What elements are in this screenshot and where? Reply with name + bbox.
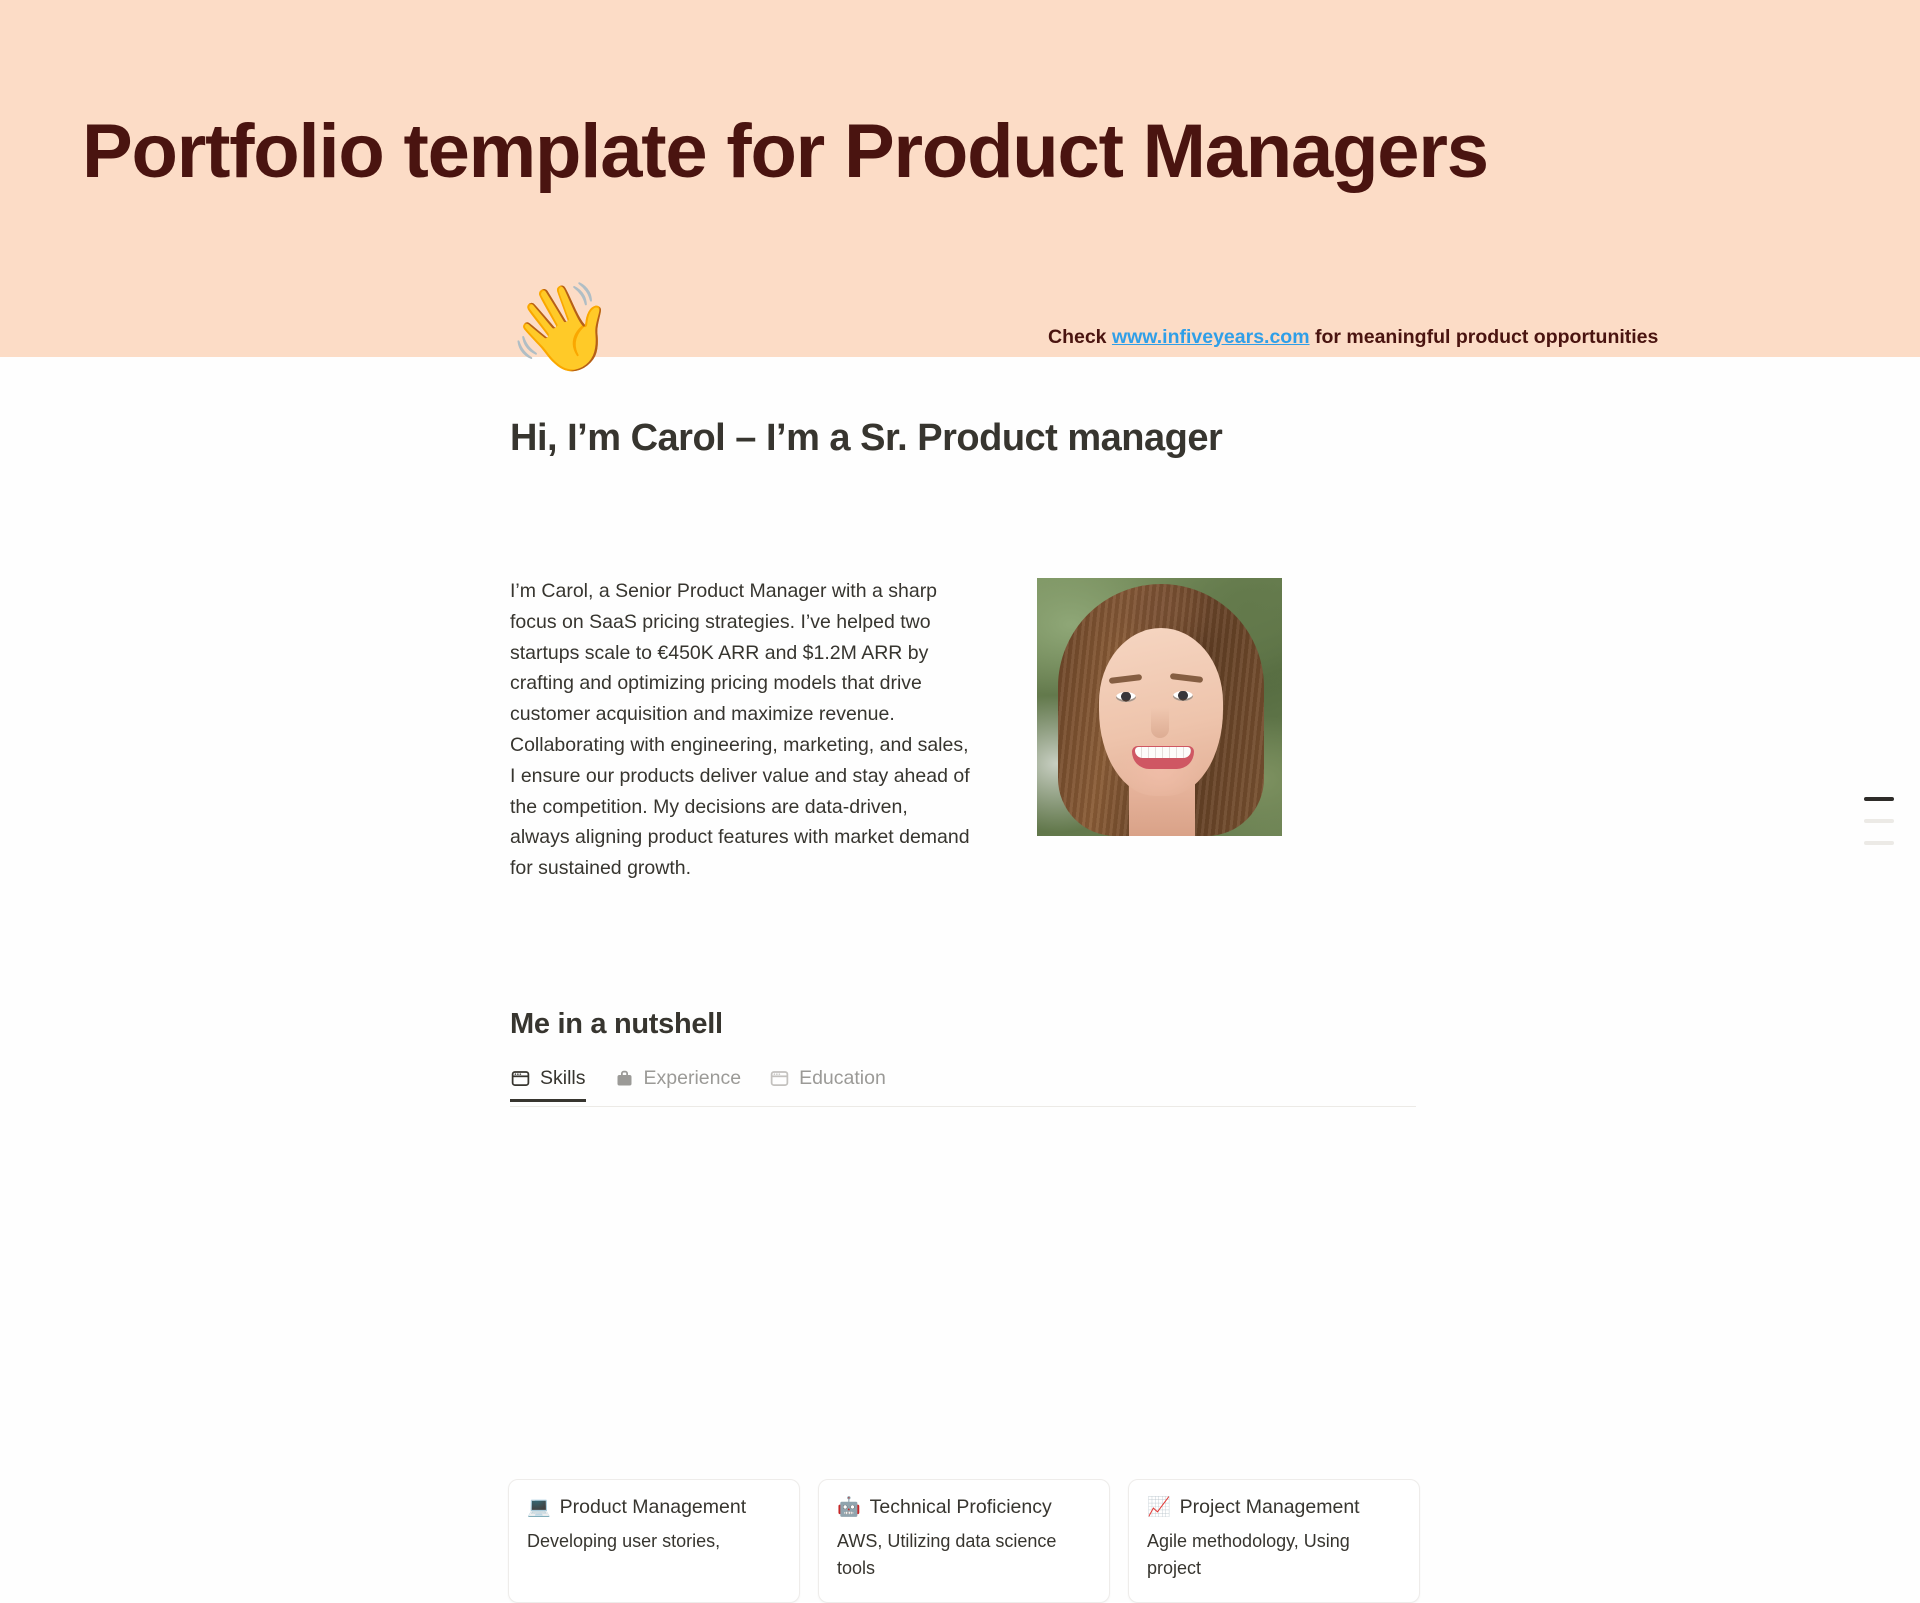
intro-paragraph: I’m Carol, a Senior Product Manager with… — [510, 576, 972, 884]
browser-window-icon — [510, 1068, 531, 1089]
tab-education[interactable]: Education — [769, 1067, 900, 1100]
banner-note: Check www.infiveyears.com for meaningful… — [1048, 326, 1658, 349]
nutshell-heading: Me in a nutshell — [510, 1008, 723, 1041]
photo-teeth — [1135, 747, 1191, 758]
browser-window-icon — [769, 1068, 790, 1089]
banner-note-prefix: Check — [1048, 326, 1112, 348]
skill-card-body: AWS, Utilizing data science tools — [837, 1528, 1091, 1582]
chart-increasing-emoji: 📈 — [1147, 1498, 1171, 1517]
photo-nose — [1151, 708, 1169, 738]
laptop-emoji: 💻 — [527, 1498, 551, 1517]
skill-card-body: Agile methodology, Using project — [1147, 1528, 1401, 1582]
section-nav-dash-3[interactable] — [1864, 841, 1894, 845]
skill-card-header: 📈 Project Management — [1147, 1496, 1401, 1519]
skill-card[interactable]: 💻 Product Management Developing user sto… — [508, 1479, 800, 1603]
section-nav-dash-1[interactable] — [1864, 797, 1894, 801]
skill-card-body: Developing user stories, — [527, 1528, 781, 1555]
skill-card-title: Product Management — [560, 1496, 746, 1519]
photo-eye-right — [1173, 691, 1193, 701]
infiveyears-link[interactable]: www.infiveyears.com — [1112, 326, 1310, 348]
nutshell-tabs: Skills Experience Educati — [510, 1067, 1416, 1107]
skill-card[interactable]: 🤖 Technical Proficiency AWS, Utilizing d… — [818, 1479, 1110, 1603]
profile-photo — [1037, 578, 1282, 836]
photo-eye-left — [1116, 692, 1136, 702]
skill-card-title: Technical Proficiency — [870, 1496, 1052, 1519]
tab-experience-label: Experience — [644, 1067, 742, 1090]
skills-card-list: 💻 Product Management Developing user sto… — [508, 1479, 1420, 1603]
section-nav-dash-2[interactable] — [1864, 819, 1894, 823]
tab-skills-label: Skills — [540, 1067, 586, 1090]
skill-card[interactable]: 📈 Project Management Agile methodology, … — [1128, 1479, 1420, 1603]
banner-note-suffix: for meaningful product opportunities — [1310, 326, 1659, 348]
photo-mouth — [1132, 746, 1194, 769]
skill-card-header: 🤖 Technical Proficiency — [837, 1496, 1091, 1519]
tab-skills[interactable]: Skills — [510, 1067, 600, 1100]
robot-emoji: 🤖 — [837, 1498, 861, 1517]
banner-title: Portfolio template for Product Managers — [82, 108, 1488, 195]
tab-education-label: Education — [799, 1067, 886, 1090]
section-nav — [1864, 797, 1908, 845]
page-content: 👋 Hi, I’m Carol – I’m a Sr. Product mana… — [0, 357, 1920, 1199]
promo-banner: Portfolio template for Product Managers … — [0, 0, 1920, 357]
page-title: Hi, I’m Carol – I’m a Sr. Product manage… — [510, 413, 1300, 464]
waving-hand-emoji: 👋 — [508, 285, 615, 371]
skill-card-header: 💻 Product Management — [527, 1496, 781, 1519]
briefcase-icon — [614, 1068, 635, 1089]
skill-card-title: Project Management — [1180, 1496, 1360, 1519]
tab-experience[interactable]: Experience — [614, 1067, 756, 1100]
